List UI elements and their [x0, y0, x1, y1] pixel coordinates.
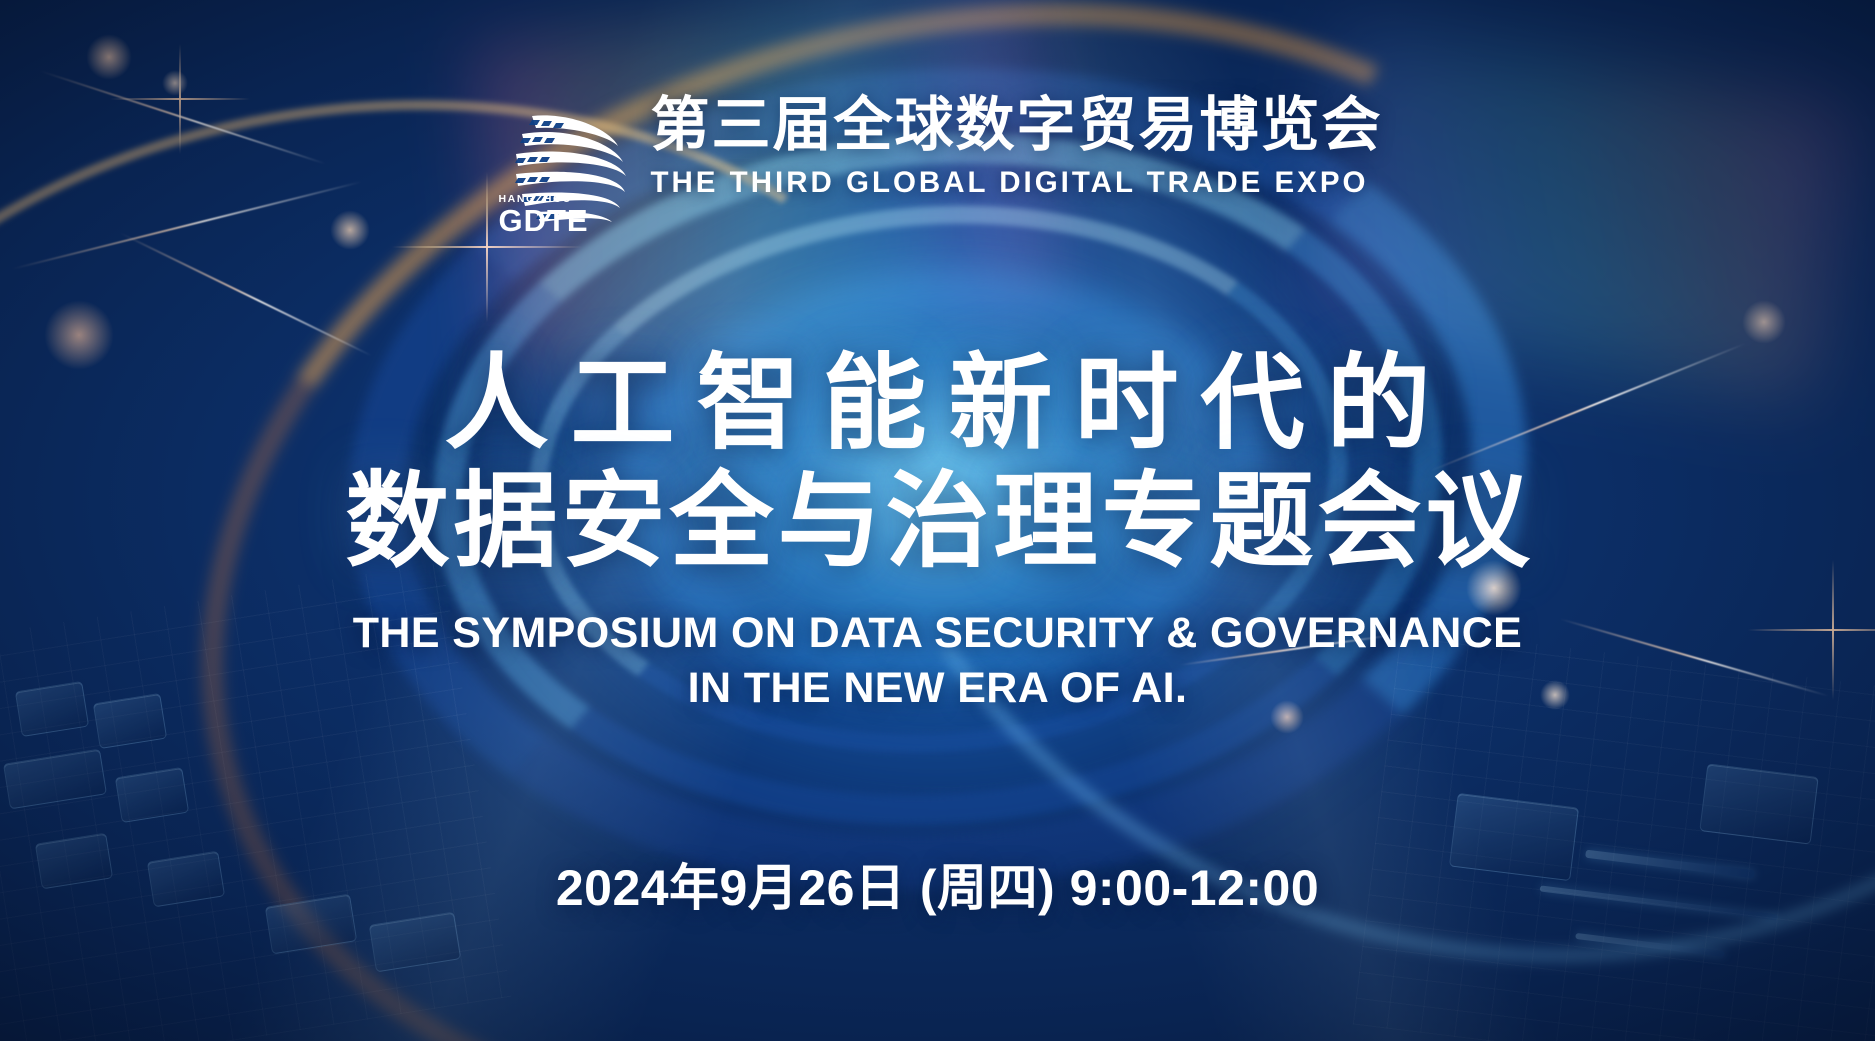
- poster-content: HANGZHOU GDTE 第三届全球数字贸易博览会 THE THIRD GLO…: [0, 0, 1875, 1041]
- main-title-en-line1: THE SYMPOSIUM ON DATA SECURITY & GOVERNA…: [0, 606, 1875, 661]
- expo-title-cn: 第三届全球数字贸易博览会: [650, 96, 1382, 155]
- main-title-cn-line2: 数据安全与治理专题会议: [0, 470, 1875, 574]
- expo-title-group: 第三届全球数字贸易博览会 THE THIRD GLOBAL DIGITAL TR…: [650, 92, 1382, 198]
- expo-header-lockup: HANGZHOU GDTE 第三届全球数字贸易博览会 THE THIRD GLO…: [0, 92, 1875, 228]
- main-title-en: THE SYMPOSIUM ON DATA SECURITY & GOVERNA…: [0, 606, 1875, 716]
- main-title-block: 人工智能新时代的 数据安全与治理专题会议 THE SYMPOSIUM ON DA…: [0, 352, 1875, 716]
- expo-title-en: THE THIRD GLOBAL DIGITAL TRADE EXPO: [650, 168, 1382, 198]
- logo-abbreviation: GDTE: [498, 205, 588, 236]
- main-title-cn-line1: 人工智能新时代的: [0, 352, 1875, 456]
- gdte-logo: HANGZHOU GDTE: [492, 100, 632, 228]
- event-datetime: 2024年9月26日 (周四) 9:00-12:00: [0, 848, 1875, 920]
- conference-poster: HANGZHOU GDTE 第三届全球数字贸易博览会 THE THIRD GLO…: [0, 0, 1875, 1041]
- gdte-wordmark: HANGZHOU GDTE: [498, 194, 588, 237]
- main-title-en-line2: IN THE NEW ERA OF AI.: [0, 661, 1875, 716]
